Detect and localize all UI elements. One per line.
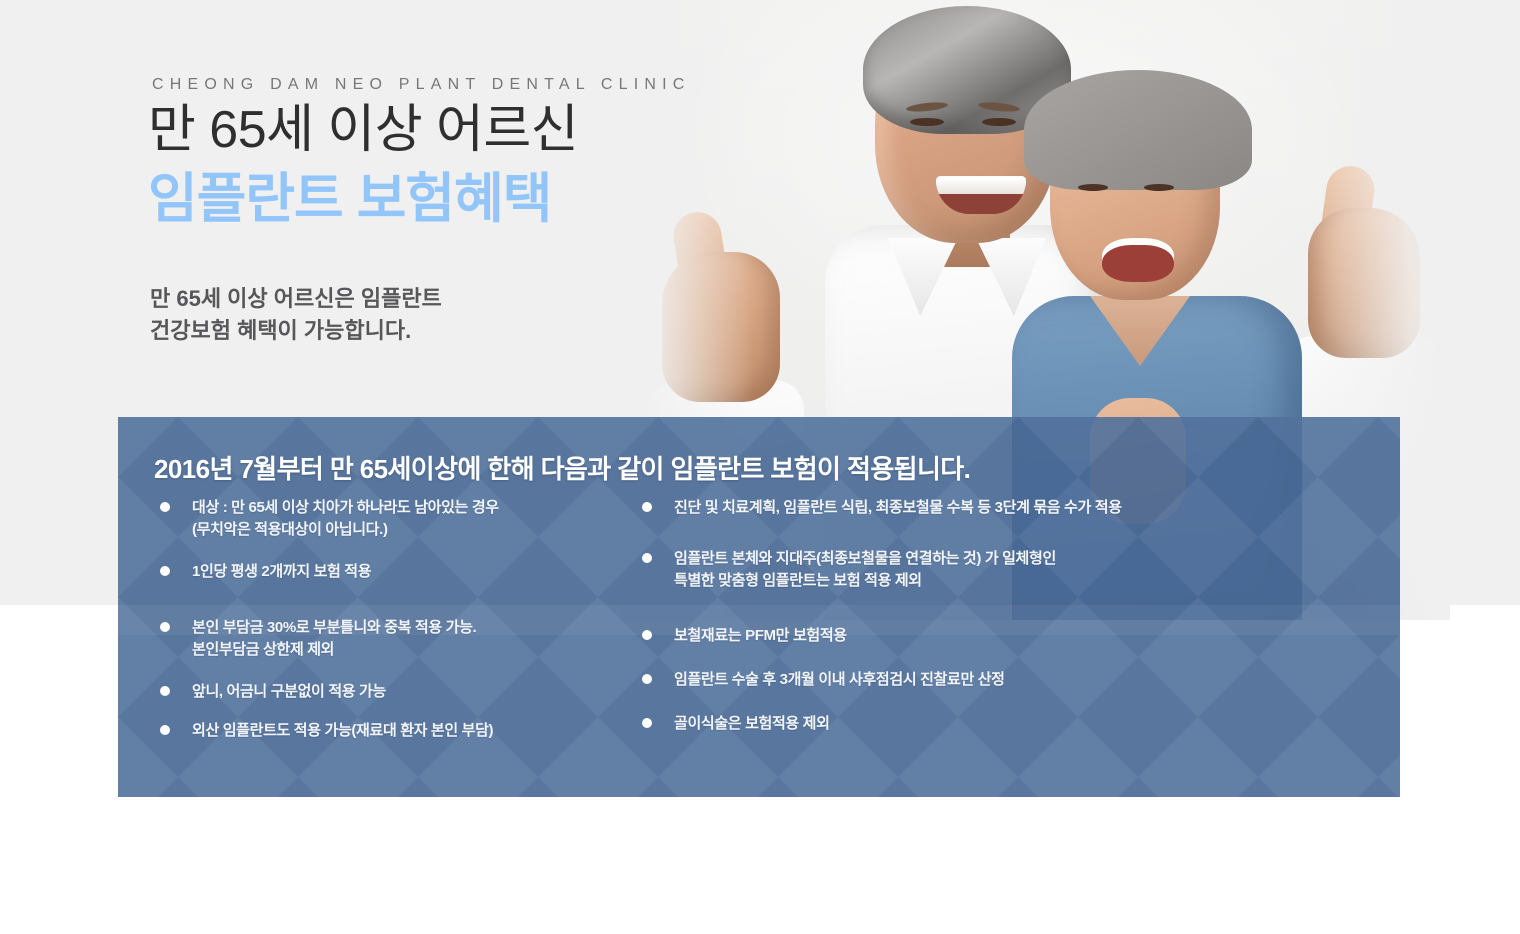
list-item: 외산 임플란트도 적용 가능(재료대 환자 본인 부담) — [154, 720, 654, 742]
headline-line-2: 임플란트 보험혜택 — [148, 168, 551, 232]
benefit-list-right: 진단 및 치료계획, 임플란트 식립, 최종보철물 수복 등 3단계 묶음 수가… — [636, 497, 1366, 735]
panel-title: 2016년 7월부터 만 65세이상에 한해 다음과 같이 임플란트 보험이 적… — [154, 449, 970, 486]
hero-subcopy: 만 65세 이상 어르신은 임플란트 건강보험 혜택이 가능합니다. — [150, 283, 442, 347]
insurance-info-panel: 2016년 7월부터 만 65세이상에 한해 다음과 같이 임플란트 보험이 적… — [118, 417, 1400, 797]
list-item: 앞니, 어금니 구분없이 적용 가능 — [154, 681, 654, 703]
list-item: 골이식술은 보험적용 제외 — [636, 713, 1366, 735]
list-item: 대상 : 만 65세 이상 치아가 하나라도 남아있는 경우 (무치악은 적용대… — [154, 497, 654, 541]
benefit-list-left: 대상 : 만 65세 이상 치아가 하나라도 남아있는 경우 (무치악은 적용대… — [154, 497, 654, 742]
promo-banner: CHEONG DAM NEO PLANT DENTAL CLINIC 만 65세… — [0, 0, 1520, 934]
list-item: 본인 부담금 30%로 부분틀니와 중복 적용 가능. 본인부담금 상한제 제외 — [154, 617, 654, 661]
list-item: 진단 및 치료계획, 임플란트 식립, 최종보철물 수복 등 3단계 묶음 수가… — [636, 497, 1366, 519]
list-item: 임플란트 수술 후 3개월 이내 사후점검시 진찰료만 산정 — [636, 669, 1366, 691]
clinic-tagline: CHEONG DAM NEO PLANT DENTAL CLINIC — [152, 76, 691, 94]
list-item: 1인당 평생 2개까지 보험 적용 — [154, 561, 654, 583]
list-item: 보철재료는 PFM만 보험적용 — [636, 625, 1366, 647]
list-item: 임플란트 본체와 지대주(최종보철물을 연결하는 것) 가 일체형인 특별한 맞… — [636, 548, 1366, 592]
headline-line-1: 만 65세 이상 어르신 — [148, 100, 578, 161]
